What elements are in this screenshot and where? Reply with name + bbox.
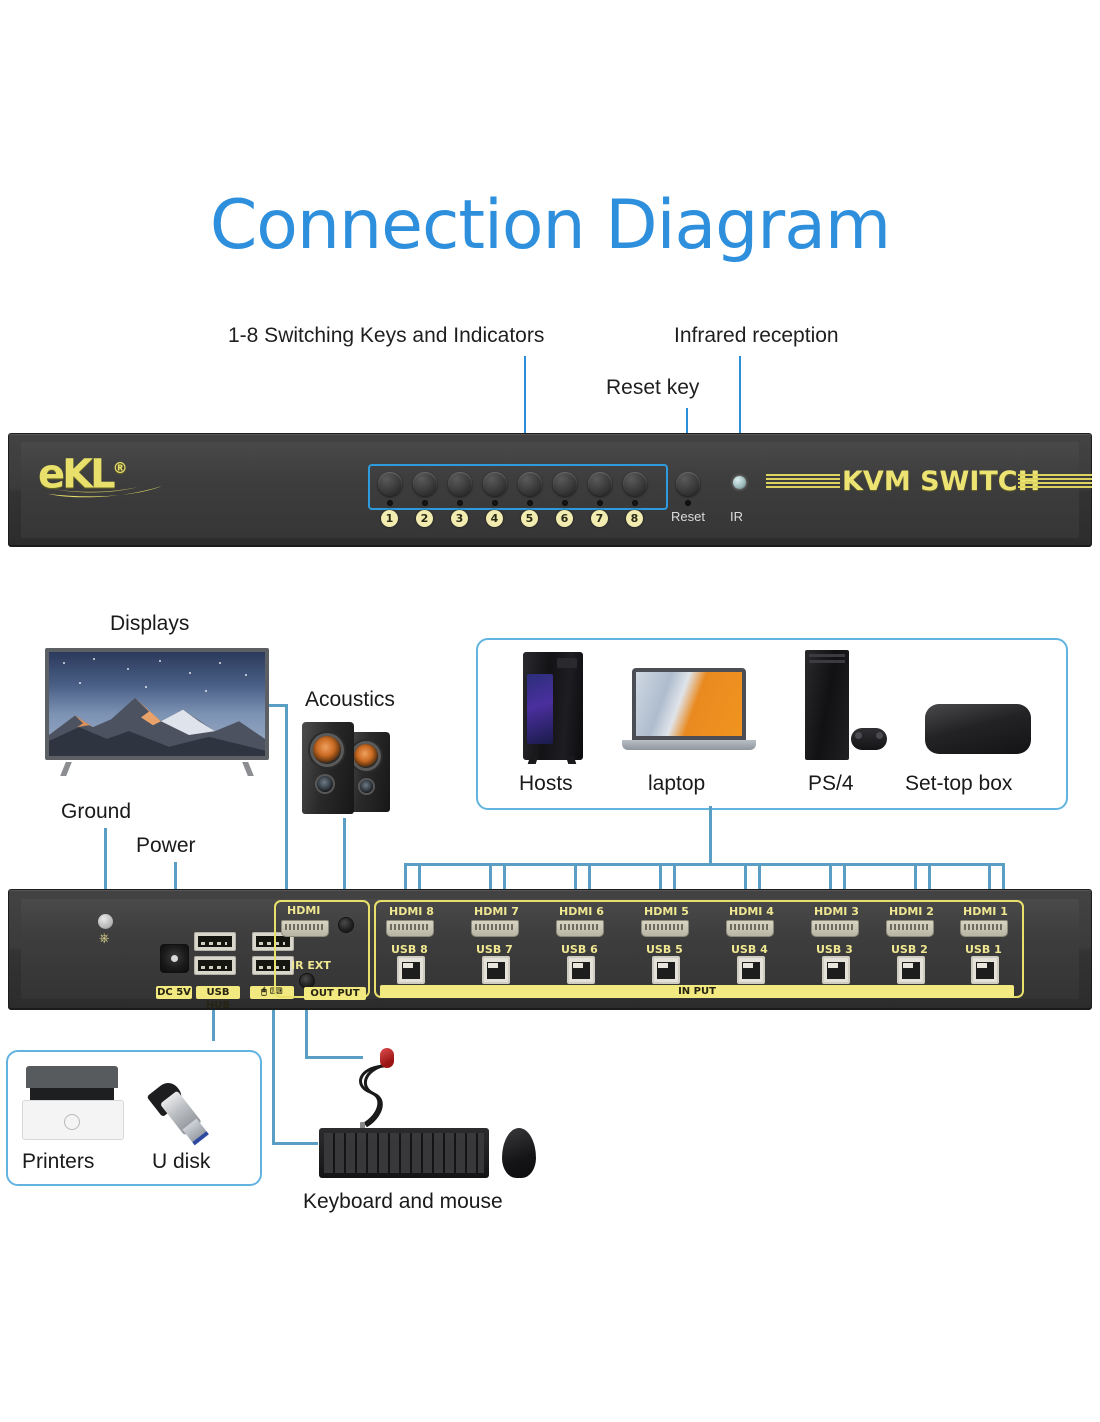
acoustics-speakers-image (300, 722, 406, 818)
usb-6-label: USB 6 (561, 943, 598, 956)
usb-5-port[interactable] (652, 956, 680, 984)
switch-number-8: 8 (626, 510, 643, 527)
label-power: Power (136, 834, 196, 858)
switch-button-8[interactable] (623, 472, 647, 496)
tv-mountain-graphic (49, 692, 265, 756)
host-settop-box-image (925, 700, 1031, 762)
switch-button-3[interactable] (448, 472, 472, 496)
hdmi-3-label: HDMI 3 (814, 905, 859, 918)
hosts-bus-vertical (709, 806, 712, 865)
hdmi-5-port[interactable] (641, 920, 689, 937)
usb-hub-label: USB HUB (196, 986, 240, 999)
reset-led (685, 500, 691, 506)
ir-cable-wire (348, 1048, 408, 1130)
usb-4-port[interactable] (737, 956, 765, 984)
switch-button-1[interactable] (378, 472, 402, 496)
hdmi-2-label: HDMI 2 (889, 905, 934, 918)
switch-led-8 (632, 500, 638, 506)
switch-number-1: 1 (381, 510, 398, 527)
switch-button-6[interactable] (553, 472, 577, 496)
switching-key-group[interactable]: 1 2 3 4 5 6 7 8 (368, 464, 668, 526)
hdmi-6-port[interactable] (556, 920, 604, 937)
udisk-image (150, 1062, 236, 1140)
callout-infrared-reception: Infrared reception (674, 324, 839, 348)
product-name: KVM SWITCH (842, 466, 1040, 497)
hdmi-7-label: HDMI 7 (474, 905, 519, 918)
hdmi-5-label: HDMI 5 (644, 905, 689, 918)
kvm-right-bars-icon (1018, 474, 1092, 487)
tv-line-v (285, 704, 288, 894)
switch-led-4 (492, 500, 498, 506)
hdmi-output-port[interactable] (281, 920, 329, 937)
switch-number-5: 5 (521, 510, 538, 527)
usb-3-port[interactable] (822, 956, 850, 984)
kvm-left-bars-icon (766, 474, 840, 487)
hdmi-1-port[interactable] (960, 920, 1008, 937)
usb-2-port[interactable] (897, 956, 925, 984)
host-laptop-image (622, 668, 756, 764)
switch-button-7[interactable] (588, 472, 612, 496)
hdmi-4-label: HDMI 4 (729, 905, 774, 918)
host-ps4-image (795, 650, 887, 764)
reset-label: Reset (671, 509, 705, 524)
ground-symbol-icon: ⎈ (99, 931, 109, 944)
product-name-block: KVM SWITCH (766, 466, 1066, 500)
label-udisk: U disk (152, 1150, 210, 1174)
tv-stand-right (242, 762, 254, 776)
output-group-label: OUT PUT (304, 987, 366, 1000)
usb-7-label: USB 7 (476, 943, 513, 956)
dc-power-jack[interactable] (160, 944, 189, 973)
kbm-line-h (272, 1142, 318, 1145)
usb-hub-port-bottom[interactable] (194, 956, 236, 975)
usb-3-label: USB 3 (816, 943, 853, 956)
callout-reset-key: Reset key (606, 376, 699, 400)
switch-led-5 (527, 500, 533, 506)
ir-extension-cable-image (348, 1048, 408, 1130)
switch-number-7: 7 (591, 510, 608, 527)
usb-1-port[interactable] (971, 956, 999, 984)
ir-receiver-icon (733, 476, 746, 489)
switch-led-2 (422, 500, 428, 506)
label-settop-box: Set-top box (905, 772, 1012, 796)
usb-6-port[interactable] (567, 956, 595, 984)
tv-screen (49, 652, 265, 756)
ir-label: IR (730, 509, 743, 524)
host-pc-tower-image (515, 652, 587, 764)
hdmi-4-port[interactable] (726, 920, 774, 937)
label-displays: Displays (110, 612, 189, 636)
switch-led-6 (562, 500, 568, 506)
usb-5-label: USB 5 (646, 943, 683, 956)
usb-8-label: USB 8 (391, 943, 428, 956)
label-printers: Printers (22, 1150, 94, 1174)
audio-output-jack[interactable] (338, 917, 354, 933)
ir-ext-label: IR EXT (291, 959, 331, 972)
hdmi-1-label: HDMI 1 (963, 905, 1008, 918)
label-hosts: Hosts (519, 772, 573, 796)
keyboard-image (319, 1128, 489, 1178)
page-title: Connection Diagram (0, 186, 1100, 265)
switch-led-7 (597, 500, 603, 506)
brand-logo: eKL® (38, 448, 168, 506)
switch-button-5[interactable] (518, 472, 542, 496)
hdmi-3-port[interactable] (811, 920, 859, 937)
label-laptop: laptop (648, 772, 705, 796)
usb-7-port[interactable] (482, 956, 510, 984)
switch-number-3: 3 (451, 510, 468, 527)
usb-8-port[interactable] (397, 956, 425, 984)
switch-number-6: 6 (556, 510, 573, 527)
input-group-label: IN PUT (380, 985, 1014, 998)
hdmi-8-label: HDMI 8 (389, 905, 434, 918)
label-ground: Ground (61, 800, 131, 824)
mouse-image (502, 1128, 536, 1178)
switch-led-3 (457, 500, 463, 506)
label-keyboard-mouse: Keyboard and mouse (303, 1190, 503, 1214)
hdmi-7-port[interactable] (471, 920, 519, 937)
switch-button-4[interactable] (483, 472, 507, 496)
switch-number-2: 2 (416, 510, 433, 527)
usb-1-label: USB 1 (965, 943, 1002, 956)
switch-button-2[interactable] (413, 472, 437, 496)
hdmi-8-port[interactable] (386, 920, 434, 937)
switch-number-4: 4 (486, 510, 503, 527)
display-tv-image (45, 648, 269, 776)
usb-2-label: USB 2 (891, 943, 928, 956)
label-ps4: PS/4 (808, 772, 854, 796)
ground-screw-icon (98, 914, 113, 929)
tv-bezel (45, 648, 269, 760)
hdmi-out-label: HDMI (287, 904, 320, 917)
switch-led-1 (387, 500, 393, 506)
callout-switching-keys: 1-8 Switching Keys and Indicators (228, 324, 544, 348)
hdmi-6-label: HDMI 6 (559, 905, 604, 918)
dc-label: DC 5V (156, 986, 192, 999)
registered-icon: ® (113, 459, 128, 477)
label-acoustics: Acoustics (305, 688, 395, 712)
logo-swoosh-icon (46, 482, 166, 500)
usb-4-label: USB 4 (731, 943, 768, 956)
hdmi-2-port[interactable] (886, 920, 934, 937)
tv-stand-left (60, 762, 72, 776)
speaker-left (302, 722, 354, 814)
printer-image (22, 1066, 122, 1138)
reset-button[interactable] (676, 472, 700, 496)
usb-hub-port-top[interactable] (194, 932, 236, 951)
